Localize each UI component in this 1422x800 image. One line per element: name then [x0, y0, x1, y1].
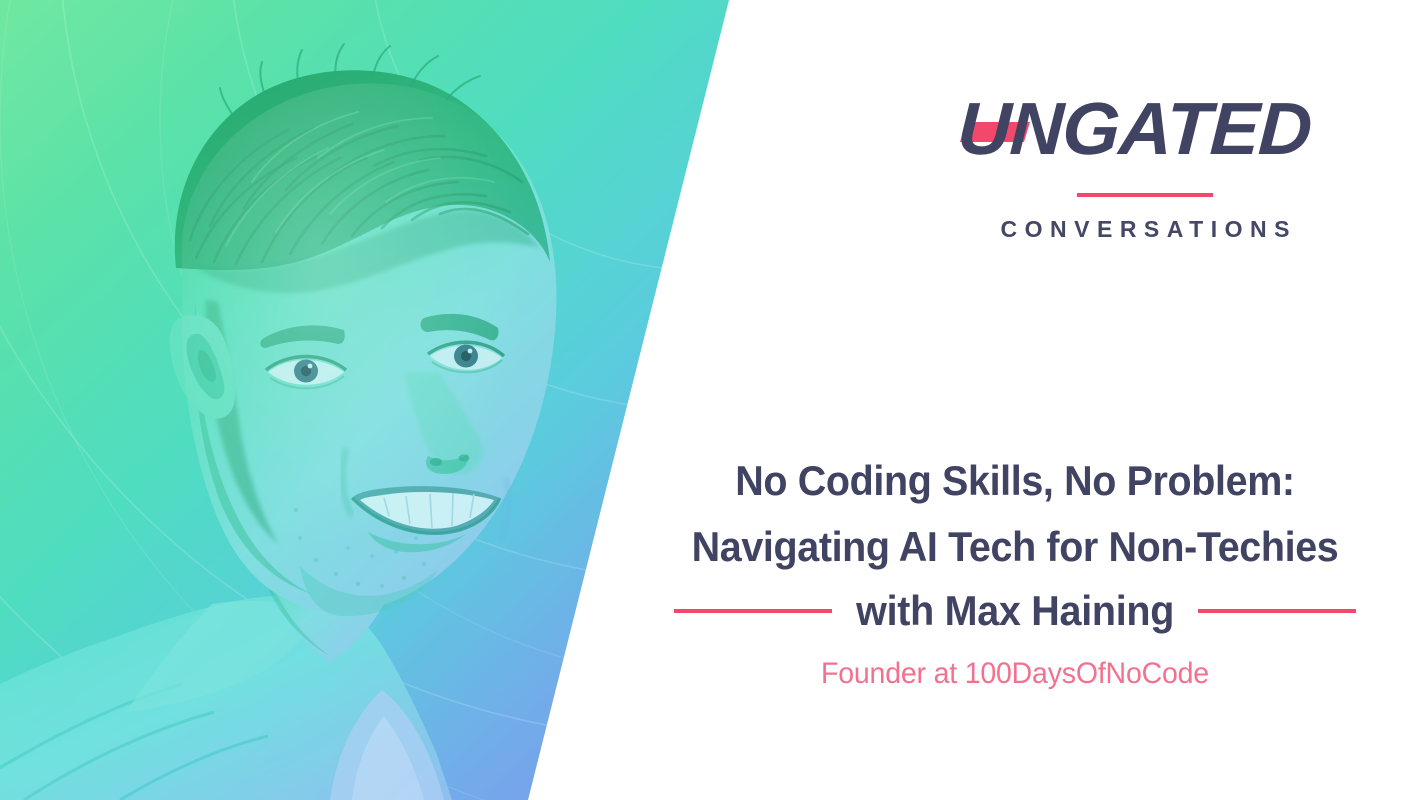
guest-rule-right	[1198, 609, 1356, 613]
guest-name-row: with Max Haining	[620, 587, 1410, 635]
brand-logo: UNGATED CONVERSATIONS	[930, 86, 1360, 242]
wordmark-text: UNGATED	[960, 87, 1313, 170]
guest-role: Founder at 100DaysOfNoCode	[640, 657, 1391, 691]
logo-divider-rule	[1077, 193, 1213, 197]
podcast-episode-cover: UNGATED CONVERSATIONS No Coding Skills, …	[0, 0, 1422, 800]
episode-title-line-2: Navigating AI Tech for Non-Techies	[644, 514, 1387, 580]
episode-title-block: No Coding Skills, No Problem: Navigating…	[620, 448, 1410, 691]
guest-name: with Max Haining	[856, 587, 1174, 635]
ungated-wordmark: UNGATED	[960, 86, 1330, 172]
logo-subtitle: CONVERSATIONS	[930, 217, 1360, 242]
guest-rule-left	[674, 609, 832, 613]
episode-title-line-1: No Coding Skills, No Problem:	[644, 448, 1387, 514]
